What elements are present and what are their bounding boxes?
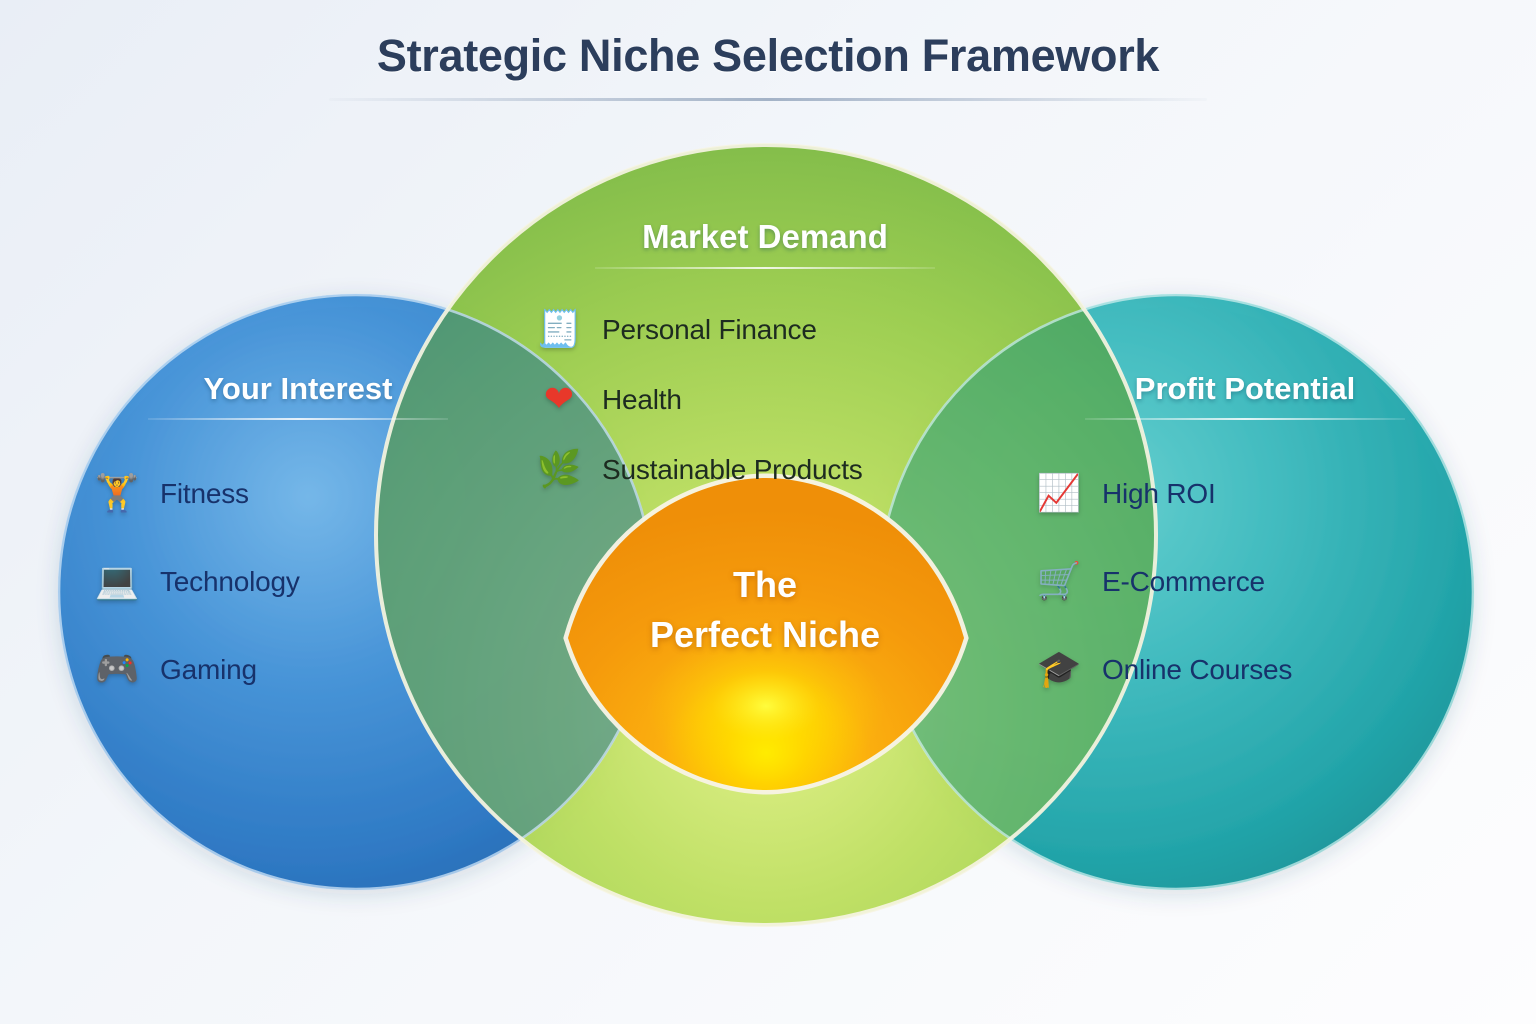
graduation-cap-icon: 🎓 (1030, 652, 1088, 688)
lobe-header-market-demand: Market Demand (530, 218, 1000, 256)
item-label: Gaming (146, 654, 257, 686)
lobe-header-profit-potential: Profit Potential (1030, 371, 1460, 407)
perfect-niche-line-2: Perfect Niche (565, 610, 965, 660)
item-label: Technology (146, 566, 300, 598)
money-calculator-icon: 🧾 (530, 312, 588, 348)
list-item: 🎮 Gaming (88, 626, 508, 714)
gamepad-icon: 🎮 (88, 652, 146, 688)
lobe-divider-profit-potential (1085, 418, 1405, 420)
item-list-your-interest: 🏋 Fitness 💻 Technology 🎮 Gaming (88, 450, 508, 714)
lobe-header-your-interest: Your Interest (88, 371, 508, 407)
lobe-divider-your-interest (148, 418, 448, 420)
lobe-your-interest: Your Interest 🏋 Fitness 💻 Technology 🎮 G… (88, 371, 508, 714)
item-label: High ROI (1088, 478, 1216, 510)
laptop-gear-icon: 💻 (88, 564, 146, 600)
growth-chart-icon: 📈 (1030, 476, 1088, 512)
list-item: 💻 Technology (88, 538, 508, 626)
list-item: 🌿 Sustainable Products (530, 435, 1000, 505)
item-label: Personal Finance (588, 314, 817, 346)
item-list-market-demand: 🧾 Personal Finance ❤ Health 🌿 Sustainabl… (530, 295, 1000, 505)
perfect-niche-line-1: The (565, 560, 965, 610)
item-label: Health (588, 384, 682, 416)
lobe-profit-potential: Profit Potential 📈 High ROI 🛒 E-Commerce… (1030, 371, 1460, 714)
list-item: 🏋 Fitness (88, 450, 508, 538)
heart-pulse-icon: ❤ (530, 382, 588, 418)
list-item: 🧾 Personal Finance (530, 295, 1000, 365)
item-list-profit-potential: 📈 High ROI 🛒 E-Commerce 🎓 Online Courses (1030, 450, 1460, 714)
list-item: 📈 High ROI (1030, 450, 1460, 538)
lobe-market-demand: Market Demand 🧾 Personal Finance ❤ Healt… (530, 218, 1000, 505)
list-item: 🎓 Online Courses (1030, 626, 1460, 714)
label-layer: Your Interest 🏋 Fitness 💻 Technology 🎮 G… (0, 0, 1536, 1024)
item-label: Fitness (146, 478, 249, 510)
item-label: E-Commerce (1088, 566, 1265, 598)
list-item: 🛒 E-Commerce (1030, 538, 1460, 626)
list-item: ❤ Health (530, 365, 1000, 435)
item-label: Sustainable Products (588, 454, 863, 486)
leaf-icon: 🌿 (530, 452, 588, 488)
dumbbell-icon: 🏋 (88, 476, 146, 512)
item-label: Online Courses (1088, 654, 1292, 686)
shopping-cart-icon: 🛒 (1030, 564, 1088, 600)
perfect-niche-label: The Perfect Niche (565, 560, 965, 659)
lobe-divider-market-demand (595, 267, 935, 269)
